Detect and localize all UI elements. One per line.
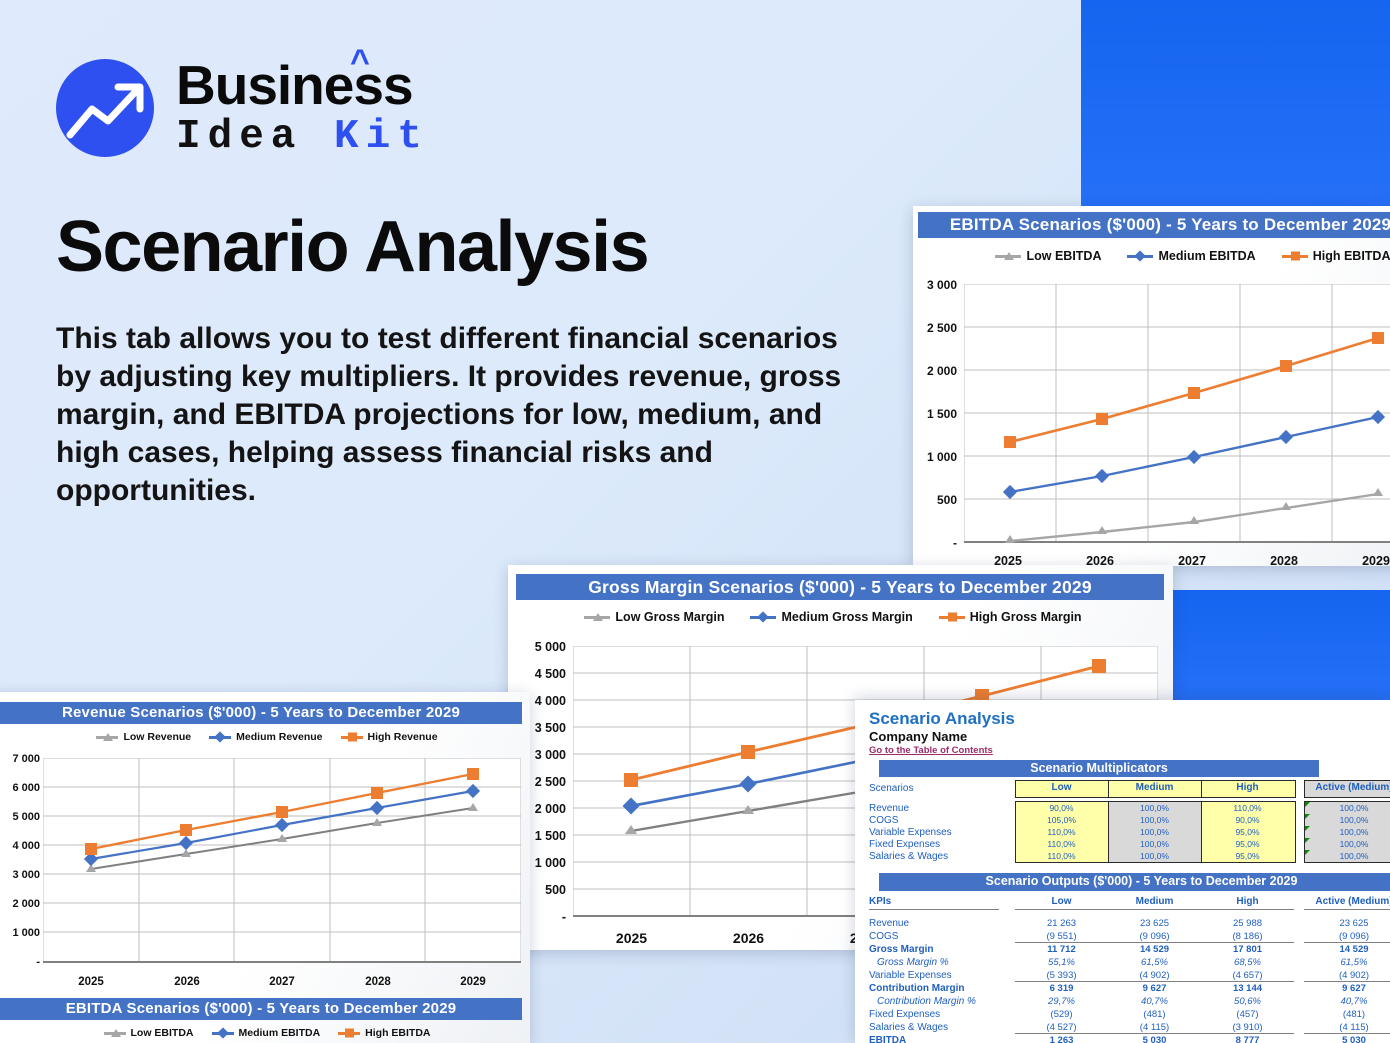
kpi-label-salaries-wages: Salaries & Wages (869, 1022, 948, 1033)
legend-label: Medium Gross Margin (781, 610, 912, 624)
active-flag-icon (1305, 814, 1310, 819)
multiplicators-label-salaries: Salaries & Wages (869, 851, 948, 862)
cell-out-contribution-pct-low[interactable]: 29,7% (1015, 996, 1108, 1007)
cell-mult-variable-active[interactable]: 100,0% (1304, 827, 1390, 837)
y-tick-label: 1 500 (913, 407, 957, 421)
kpi-label-variable-expenses: Variable Expenses (869, 970, 952, 981)
column-header-active: Active (Medium) (1304, 782, 1390, 793)
table-of-contents-link[interactable]: Go to the Table of Contents (869, 745, 993, 756)
band-scenario-multiplicators: Scenario Multiplicators (879, 760, 1319, 777)
y-tick-label: 5 000 (514, 640, 566, 654)
section-rule (1201, 942, 1294, 943)
legend-item-low-ebitda[interactable]: Low EBITDA (995, 249, 1101, 263)
y-tick-label: 4 000 (0, 840, 40, 852)
cell-mult-fixed-high[interactable]: 95,0% (1201, 839, 1294, 849)
cell-mult-revenue-active[interactable]: 100,0% (1304, 803, 1390, 813)
y-tick-label: 2 000 (0, 898, 40, 910)
legend-item-high-revenue[interactable]: High Revenue (341, 731, 438, 743)
chart-legend-ebitda-top: Low EBITDA Medium EBITDA High EBITDA (973, 246, 1390, 266)
chart-title-ebitda-top: EBITDA Scenarios ($'000) - 5 Years to De… (918, 212, 1390, 238)
header-rule (1108, 909, 1201, 910)
cell-out-gross-margin-active[interactable]: 14 529 (1304, 944, 1390, 955)
column-header-high: High (1201, 782, 1294, 793)
cell-mult-variable-medium[interactable]: 100,0% (1108, 827, 1201, 837)
cell-out-ebitda-low[interactable]: 1 263 (1015, 1035, 1108, 1043)
cell-out-contribution-pct-high[interactable]: 50,6% (1201, 996, 1294, 1007)
cell-out-salaries-active[interactable]: (4 115) (1304, 1022, 1390, 1033)
brand-name-kit: Kit (334, 114, 429, 160)
cell-out-gross-margin-pct-medium[interactable]: 61,5% (1108, 957, 1201, 968)
cell-mult-fixed-medium[interactable]: 100,0% (1108, 839, 1201, 849)
cell-out-salaries-medium[interactable]: (4 115) (1108, 1022, 1201, 1033)
brand-name-idea: Idea (176, 114, 302, 160)
kpi-label-gross-margin-pct: Gross Margin % (877, 957, 949, 968)
column-header-low: Low (1015, 782, 1108, 793)
page-description: This tab allows you to test different fi… (56, 320, 856, 510)
kpi-label-ebitda: EBITDA (869, 1035, 906, 1043)
cell-out-gross-margin-low[interactable]: 11 712 (1015, 944, 1108, 955)
section-rule (1304, 942, 1390, 943)
cell-out-contribution-medium[interactable]: 9 627 (1108, 983, 1201, 994)
chart-card-revenue: Revenue Scenarios ($'000) - 5 Years to D… (0, 692, 530, 1043)
decorative-blue-rectangle-middle (1171, 590, 1390, 700)
kpi-label-revenue: Revenue (869, 918, 909, 929)
multiplicators-label-revenue: Revenue (869, 803, 909, 814)
x-tick-label: 2029 (1330, 554, 1390, 566)
cell-out-gross-margin-pct-high[interactable]: 68,5% (1201, 957, 1294, 968)
cell-out-gross-margin-pct-low[interactable]: 55,1% (1015, 957, 1108, 968)
kpi-label-fixed-expenses: Fixed Expenses (869, 1009, 940, 1020)
section-rule (1015, 942, 1108, 943)
legend-label: High EBITDA (1313, 249, 1390, 263)
decorative-blue-rectangle-top (1081, 0, 1390, 208)
y-tick-label: 500 (913, 493, 957, 507)
cell-mult-fixed-low[interactable]: 110,0% (1015, 839, 1108, 849)
kpi-label-contribution-margin: Contribution Margin (869, 983, 965, 994)
active-flag-icon (1305, 802, 1310, 807)
legend-item-high-ebitda[interactable]: High EBITDA (1282, 249, 1390, 263)
legend-label: Low EBITDA (1026, 249, 1101, 263)
cell-mult-cogs-low[interactable]: 105,0% (1015, 815, 1108, 825)
multiplicators-label-fixed: Fixed Expenses (869, 839, 940, 850)
section-rule (1015, 981, 1108, 982)
brand-circumflex-icon: ^ (350, 45, 369, 79)
multiplicators-row-header: Scenarios (869, 783, 913, 794)
y-tick-label: - (0, 956, 40, 968)
chart-title-revenue: Revenue Scenarios ($'000) - 5 Years to D… (0, 702, 522, 724)
section-rule (1304, 981, 1390, 982)
legend-item-high-ebitda-bottom[interactable]: High EBITDA (338, 1027, 430, 1039)
legend-item-medium-revenue[interactable]: Medium Revenue (209, 731, 322, 743)
legend-item-low-gross-margin[interactable]: Low Gross Margin (584, 610, 724, 624)
cell-out-gross-margin-pct-active[interactable]: 61,5% (1304, 957, 1390, 968)
cell-out-revenue-medium[interactable]: 23 625 (1108, 918, 1201, 929)
plot-area-revenue (43, 758, 521, 968)
y-tick-label: 3 000 (0, 869, 40, 881)
chart-legend-revenue: Low Revenue Medium Revenue High Revenue (102, 728, 432, 746)
brand-name-primary: Business (176, 54, 413, 116)
cell-mult-fixed-active[interactable]: 100,0% (1304, 839, 1390, 849)
trend-up-arrow-icon (56, 59, 154, 157)
cell-mult-salaries-low[interactable]: 110,0% (1015, 851, 1108, 861)
y-tick-label: 1 000 (913, 450, 957, 464)
y-tick-label: 2 000 (913, 364, 957, 378)
legend-label: Medium EBITDA (1158, 249, 1255, 263)
section-rule (1201, 1033, 1294, 1034)
section-rule (1015, 1033, 1108, 1034)
cell-out-fixed-high[interactable]: (457) (1201, 1009, 1294, 1020)
multiplicators-label-variable: Variable Expenses (869, 827, 952, 838)
legend-item-low-ebitda-bottom[interactable]: Low EBITDA (104, 1027, 194, 1039)
cell-out-fixed-low[interactable]: (529) (1015, 1009, 1108, 1020)
legend-label: High Gross Margin (970, 610, 1082, 624)
y-tick-label: 5 000 (0, 811, 40, 823)
cell-out-contribution-pct-active[interactable]: 40,7% (1304, 996, 1390, 1007)
x-tick-label: 2026 (690, 930, 807, 946)
cell-out-cogs-high[interactable]: (8 186) (1201, 931, 1294, 942)
chart-card-ebitda-top: EBITDA Scenarios ($'000) - 5 Years to De… (913, 206, 1390, 566)
cell-out-fixed-medium[interactable]: (481) (1108, 1009, 1201, 1020)
cell-out-revenue-low[interactable]: 21 263 (1015, 918, 1108, 929)
scenario-analysis-spreadsheet: Scenario Analysis Company Name Go to the… (855, 700, 1390, 1043)
cell-out-revenue-active[interactable]: 23 625 (1304, 918, 1390, 929)
cell-out-cogs-medium[interactable]: (9 096) (1108, 931, 1201, 942)
legend-label: Low EBITDA (131, 1027, 194, 1039)
legend-label: Medium EBITDA (239, 1027, 321, 1039)
x-tick-label: 2025 (573, 930, 690, 946)
cell-mult-variable-high[interactable]: 95,0% (1201, 827, 1294, 837)
section-rule (1201, 981, 1294, 982)
cell-out-contribution-high[interactable]: 13 144 (1201, 983, 1294, 994)
cell-out-salaries-low[interactable]: (4 527) (1015, 1022, 1108, 1033)
cell-out-fixed-active[interactable]: (481) (1304, 1009, 1390, 1020)
section-rule (1304, 1033, 1390, 1034)
cell-mult-cogs-medium[interactable]: 100,0% (1108, 815, 1201, 825)
y-tick-label: 7 000 (0, 753, 40, 765)
x-tick-label: 2026 (139, 976, 235, 988)
outputs-column-header-medium: Medium (1108, 896, 1201, 907)
cell-out-cogs-low[interactable]: (9 551) (1015, 931, 1108, 942)
kpi-label-gross-margin: Gross Margin (869, 944, 933, 955)
legend-label: Medium Revenue (236, 731, 322, 743)
active-flag-icon (1305, 850, 1310, 855)
cell-out-variable-active[interactable]: (4 902) (1304, 970, 1390, 981)
legend-item-low-revenue[interactable]: Low Revenue (96, 731, 191, 743)
header-rule (1015, 909, 1108, 910)
outputs-column-header-active: Active (Medium) (1304, 896, 1390, 907)
cell-out-variable-high[interactable]: (4 657) (1201, 970, 1294, 981)
cell-out-contribution-pct-medium[interactable]: 40,7% (1108, 996, 1201, 1007)
cell-out-ebitda-high[interactable]: 8 777 (1201, 1035, 1294, 1043)
section-rule (1108, 942, 1201, 943)
cell-out-variable-low[interactable]: (5 393) (1015, 970, 1108, 981)
active-flag-icon (1305, 838, 1310, 843)
legend-label: High EBITDA (365, 1027, 430, 1039)
sheet-title: Scenario Analysis (869, 709, 1015, 729)
chart-title-gross-margin: Gross Margin Scenarios ($'000) - 5 Years… (516, 574, 1164, 600)
sheet-company-name: Company Name (869, 729, 967, 744)
active-flag-icon (1305, 826, 1310, 831)
legend-item-high-gross-margin[interactable]: High Gross Margin (939, 610, 1082, 624)
legend-label: Low Revenue (123, 731, 191, 743)
y-tick-label: 6 000 (0, 782, 40, 794)
x-tick-label: 2028 (330, 976, 426, 988)
chart-title-ebitda-bottom: EBITDA Scenarios ($'000) - 5 Years to De… (0, 998, 522, 1020)
header-rule (1304, 909, 1390, 910)
cell-out-gross-margin-high[interactable]: 17 801 (1201, 944, 1294, 955)
cell-out-contribution-low[interactable]: 6 319 (1015, 983, 1108, 994)
header-rule (1201, 909, 1294, 910)
page-title: Scenario Analysis (56, 206, 648, 288)
kpi-label-cogs: COGS (869, 931, 898, 942)
legend-item-medium-ebitda-bottom[interactable]: Medium EBITDA (212, 1027, 321, 1039)
multiplicators-label-cogs: COGS (869, 815, 898, 826)
outputs-row-header: KPIs (869, 896, 891, 907)
outputs-column-header-low: Low (1015, 896, 1108, 907)
header-rule (869, 909, 999, 910)
cell-mult-revenue-low[interactable]: 90,0% (1015, 803, 1108, 813)
cell-mult-variable-low[interactable]: 110,0% (1015, 827, 1108, 837)
cell-mult-cogs-active[interactable]: 100,0% (1304, 815, 1390, 825)
y-tick-label: 4 500 (514, 667, 566, 681)
kpi-label-contribution-margin-pct: Contribution Margin % (877, 996, 976, 1007)
hero-section: Business ^ Idea Kit Scenario Analysis Th… (0, 0, 900, 560)
brand-logo: Business ^ Idea Kit (56, 58, 429, 158)
chart-legend-ebitda-bottom: Low EBITDA Medium EBITDA High EBITDA (102, 1024, 432, 1042)
column-header-medium: Medium (1108, 782, 1201, 793)
y-tick-label: 3 000 (913, 278, 957, 292)
y-tick-label: 2 500 (913, 321, 957, 335)
chart-legend-gross-margin: Low Gross Margin Medium Gross Margin Hig… (593, 607, 1073, 627)
cell-mult-revenue-medium[interactable]: 100,0% (1108, 803, 1201, 813)
cell-mult-revenue-high[interactable]: 110,0% (1201, 803, 1294, 813)
cell-mult-salaries-medium[interactable]: 100,0% (1108, 851, 1201, 861)
cell-out-variable-medium[interactable]: (4 902) (1108, 970, 1201, 981)
section-rule (1108, 981, 1201, 982)
x-tick-label: 2029 (425, 976, 521, 988)
cell-mult-cogs-high[interactable]: 90,0% (1201, 815, 1294, 825)
x-tick-label: 2028 (1238, 554, 1330, 566)
legend-item-medium-gross-margin[interactable]: Medium Gross Margin (750, 610, 912, 624)
cell-out-ebitda-medium[interactable]: 5 030 (1108, 1035, 1201, 1043)
outputs-column-header-high: High (1201, 896, 1294, 907)
cell-out-salaries-high[interactable]: (3 910) (1201, 1022, 1294, 1033)
cell-out-cogs-active[interactable]: (9 096) (1304, 931, 1390, 942)
cell-out-contribution-active[interactable]: 9 627 (1304, 983, 1390, 994)
x-tick-label: 2027 (234, 976, 330, 988)
legend-label: Low Gross Margin (615, 610, 724, 624)
plot-area-ebitda-top (964, 284, 1390, 546)
section-rule (1108, 1033, 1201, 1034)
cell-out-revenue-high[interactable]: 25 988 (1201, 918, 1294, 929)
x-tick-label: 2025 (43, 976, 139, 988)
y-tick-label: - (913, 536, 957, 550)
cell-mult-salaries-active[interactable]: 100,0% (1304, 851, 1390, 861)
y-tick-label: 1 000 (0, 927, 40, 939)
legend-item-medium-ebitda[interactable]: Medium EBITDA (1127, 249, 1255, 263)
legend-label: High Revenue (368, 731, 438, 743)
band-scenario-outputs: Scenario Outputs ($'000) - 5 Years to De… (879, 873, 1390, 891)
cell-out-gross-margin-medium[interactable]: 14 529 (1108, 944, 1201, 955)
cell-mult-salaries-high[interactable]: 95,0% (1201, 851, 1294, 861)
cell-out-ebitda-active[interactable]: 5 030 (1304, 1035, 1390, 1043)
